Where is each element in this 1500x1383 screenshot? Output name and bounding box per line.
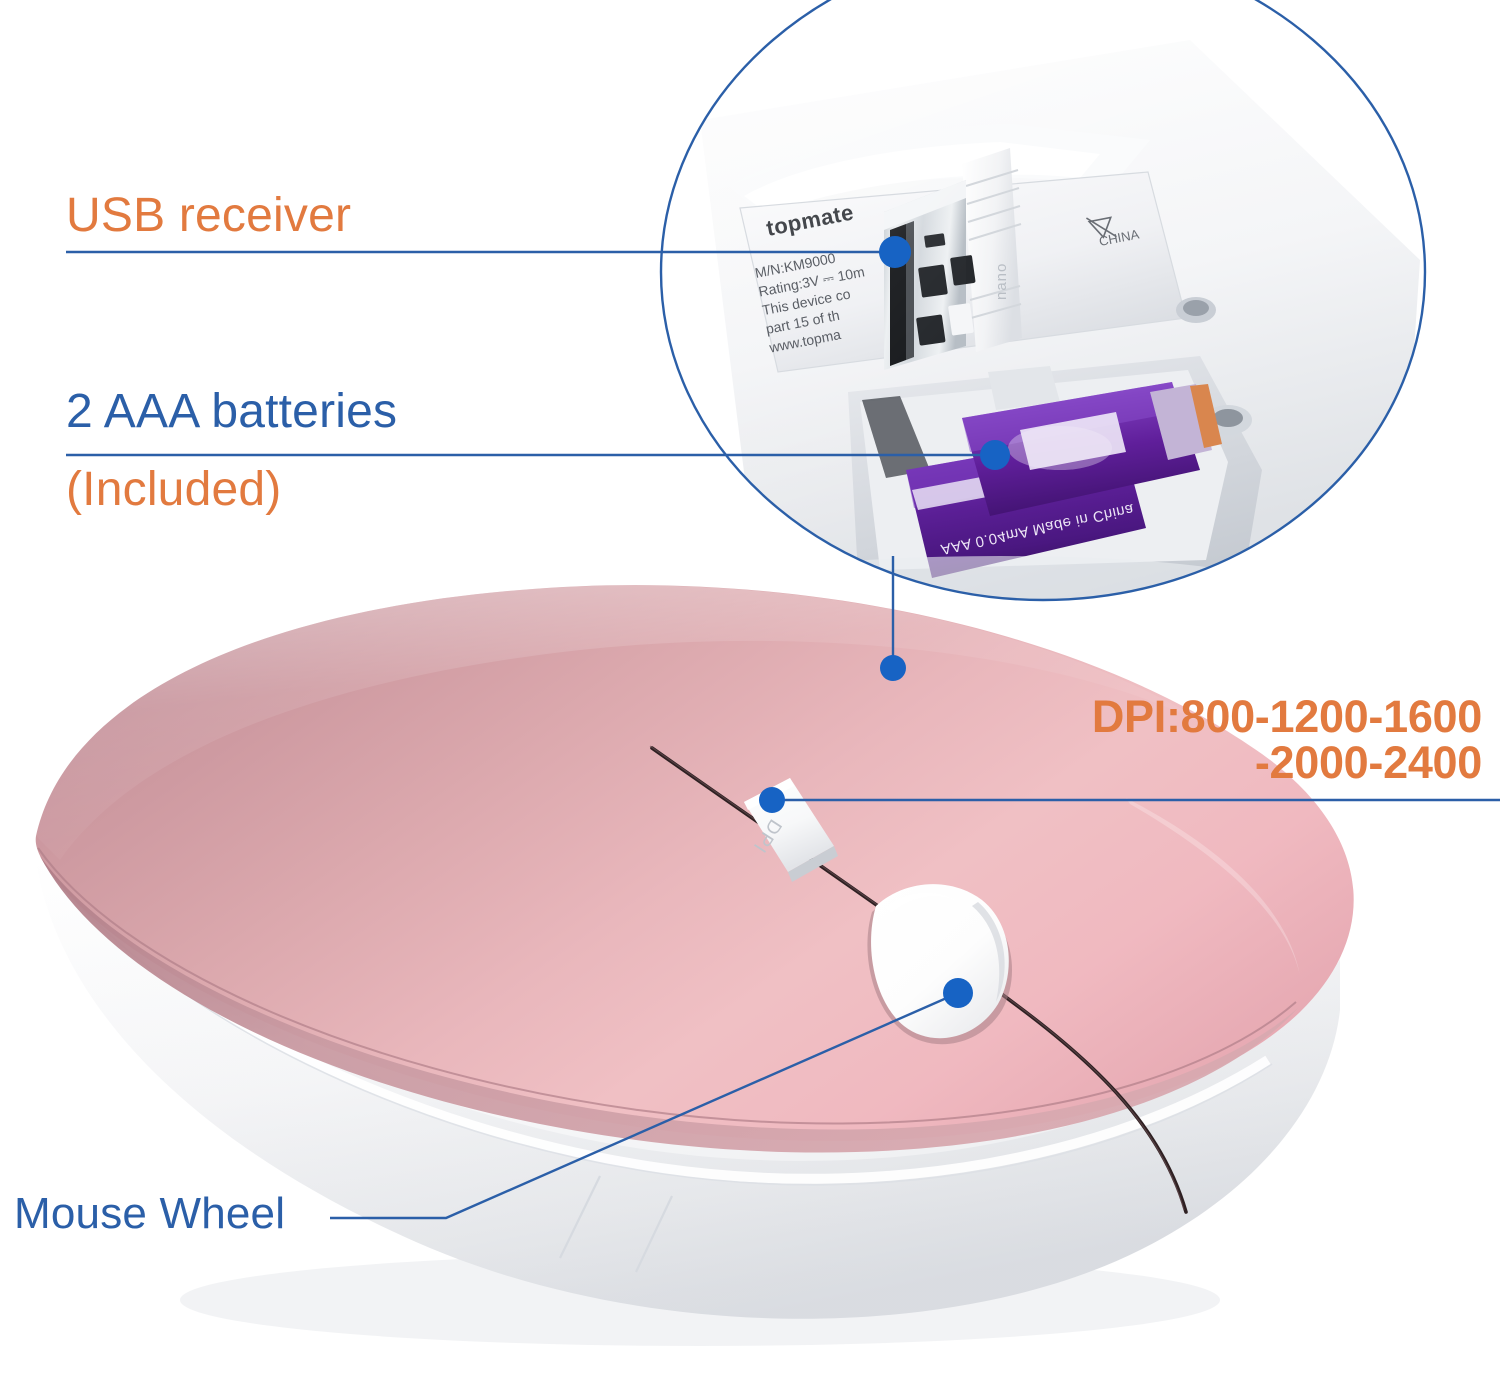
batteries-label: 2 AAA batteries [66,388,397,437]
product-infographic: topmate M/N:KM9000 Rating:3V ⎓ 10m This … [0,0,1500,1383]
callout-labels: USB receiver 2 AAA batteries (Included) … [0,0,1500,1383]
dpi-label: DPI:800-1200-1600 -2000-2400 [1092,694,1482,786]
dpi-label-line-1: DPI:800-1200-1600 [1092,694,1482,740]
mouse-wheel-label: Mouse Wheel [14,1192,285,1237]
dpi-label-line-2: -2000-2400 [1092,740,1482,786]
batteries-included-note: (Included) [66,466,281,515]
usb-receiver-label: USB receiver [66,192,351,241]
